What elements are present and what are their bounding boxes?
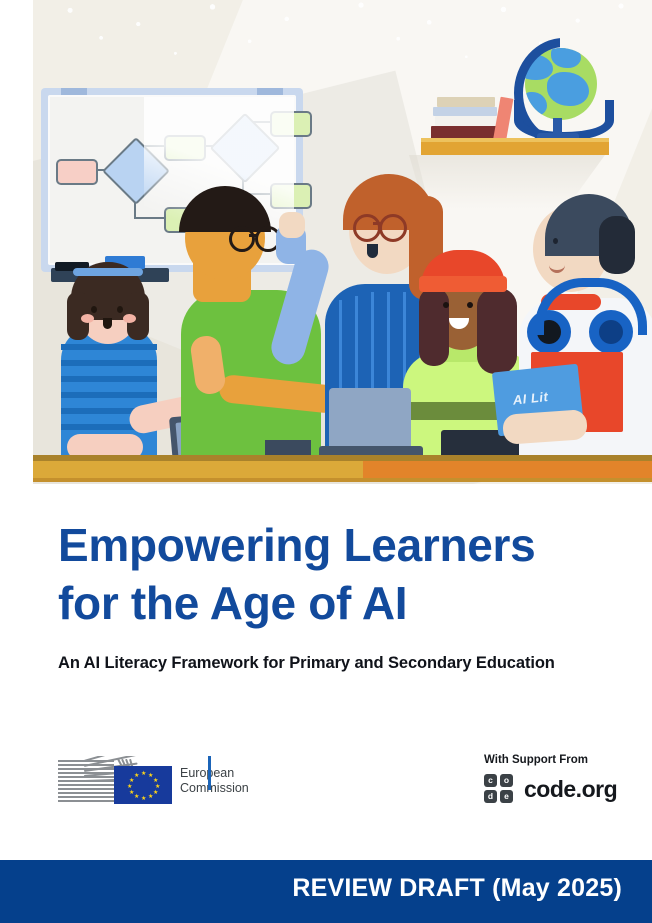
book-stack-item [433,107,497,116]
shelf [421,142,609,155]
figure-eye [91,306,97,313]
codeorg-cell: c [484,774,497,787]
figure-mouth [367,244,378,258]
cover-page: AI Lit Empowering Learners for the Age o… [0,0,652,923]
review-draft-banner: REVIEW DRAFT (May 2025) [0,860,652,923]
figure-eye [467,302,473,308]
support-block: With Support From c o d e code.org [484,754,644,804]
figure-glasses-bridge [373,222,381,225]
logo-row: ★ ★ ★ ★ ★ ★ ★ ★ ★ ★ ★ ★ European Commiss… [58,752,408,814]
flow-node-start [56,159,98,185]
figure-hand [279,212,305,238]
codeorg-cell: d [484,790,497,803]
codeorg-grid-icon: c o d e [484,774,514,804]
cover-illustration: AI Lit [0,0,652,484]
codeorg-cell: o [500,774,513,787]
figure-mouth [103,318,112,329]
figure-headband [73,268,143,276]
shirt-stripe [61,376,157,382]
page-title: Empowering Learners for the Age of AI [58,516,598,632]
title-line-1: Empowering Learners [58,519,535,571]
review-draft-text: REVIEW DRAFT (May 2025) [292,874,622,903]
shirt-stripe [61,392,157,398]
codeorg-cell: e [500,790,513,803]
book-ai-lit-label: AI Lit [512,389,549,408]
figure-eye [553,238,558,244]
european-commission-logo: ★ ★ ★ ★ ★ ★ ★ ★ ★ ★ ★ ★ European Commiss… [58,756,248,808]
ec-text-line-2: Commission [180,781,249,796]
codeorg-wordmark: code.org [524,774,617,804]
desk-front-edge [33,478,652,482]
figure-cheek [123,314,136,323]
figure-glasses-bridge [249,234,257,237]
book-stack-item [435,116,497,126]
figure-hair-back [599,216,635,274]
beanie-cuff [419,276,507,292]
figure-cheek [81,314,94,323]
figure-glasses [353,214,381,242]
codeorg-logo: c o d e code.org [484,774,644,804]
book-stack-item [437,97,495,107]
laptop-screen [329,388,411,450]
logo-divider [208,756,211,790]
figure-glasses [229,226,255,252]
shirt-stripe [61,344,157,350]
page-subtitle: An AI Literacy Framework for Primary and… [58,632,598,673]
shirt-stripe [61,360,157,366]
figure-eye [117,306,123,313]
illustration-canvas: AI Lit [33,0,652,484]
title-block: Empowering Learners for the Age of AI An… [58,516,598,673]
figure-eye [443,302,449,308]
eu-flag-icon: ★ ★ ★ ★ ★ ★ ★ ★ ★ ★ ★ ★ [114,766,172,804]
title-line-2: for the Age of AI [58,577,407,629]
ec-text-line-1: European [180,766,249,781]
ec-logo-text: European Commission [180,766,249,795]
figure-glasses [379,214,407,242]
figure-hair [477,288,517,374]
figure-hair [419,288,449,366]
figure-hand-holding-book [502,409,588,445]
support-label: With Support From [484,754,644,766]
